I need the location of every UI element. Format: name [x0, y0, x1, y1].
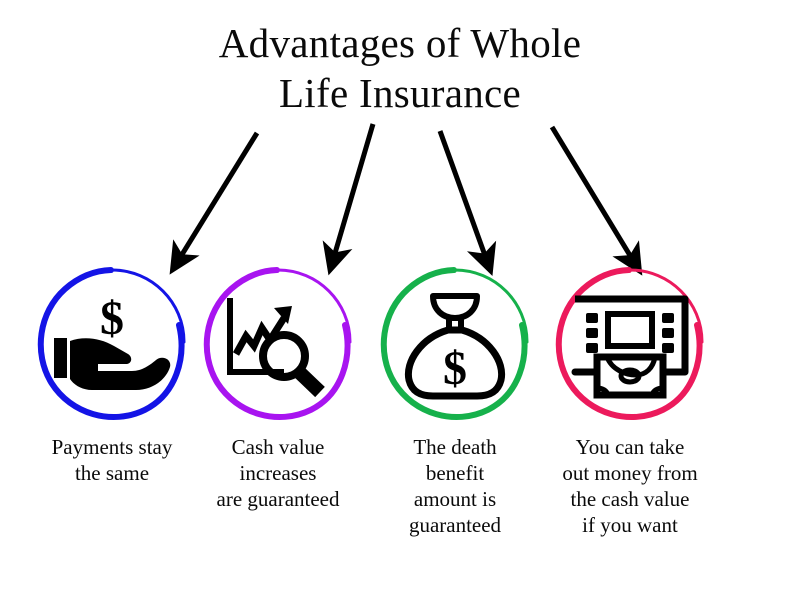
arrow-to-item-1 [178, 133, 257, 261]
item-column-4: You can take out money from the cash val… [530, 262, 730, 538]
arrow-to-item-4 [552, 127, 634, 262]
money-bag-icon: $ [375, 262, 535, 422]
infographic-canvas: Advantages of Whole Life Insurance $ Pay… [0, 0, 800, 600]
badge-3: $ [375, 262, 535, 422]
page-title: Advantages of Whole Life Insurance [0, 18, 800, 118]
badge-4 [550, 262, 710, 422]
caption-3: The death benefit amount is guaranteed [409, 434, 501, 538]
hand-holding-dollar-icon: $ [32, 262, 192, 422]
badge-1: $ [32, 262, 192, 422]
badge-2 [198, 262, 358, 422]
atm-machine-icon [550, 262, 710, 422]
caption-2: Cash value increases are guaranteed [217, 434, 340, 512]
svg-text:$: $ [443, 342, 467, 395]
item-column-2: Cash value increases are guaranteed [178, 262, 378, 512]
chart-magnifier-icon [198, 262, 358, 422]
caption-4: You can take out money from the cash val… [562, 434, 697, 538]
arrow-to-item-3 [440, 131, 487, 261]
svg-text:$: $ [100, 292, 124, 345]
arrow-to-item-2 [333, 124, 373, 260]
item-column-3: $ The death benefit amount is guaranteed [355, 262, 555, 538]
caption-1: Payments stay the same [52, 434, 173, 486]
